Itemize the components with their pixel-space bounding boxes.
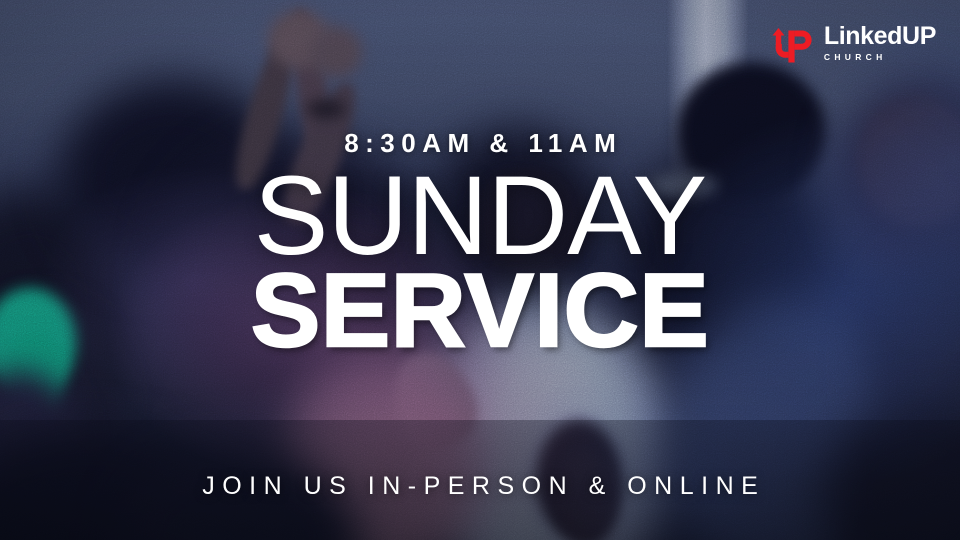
logo-subtitle: CHURCH [824,53,936,62]
headline-line-service: SERVICE [0,266,960,358]
page-title: SUNDAY SERVICE [0,168,960,358]
headline-line-sunday: SUNDAY [0,168,960,264]
linkedup-church-logo[interactable]: LinkedUP CHURCH [769,22,936,64]
linkedup-up-arrow-mark [769,22,815,64]
sunday-service-promo-graphic: LinkedUP CHURCH 8:30AM & 11AM SUNDAY SER… [0,0,960,540]
tagline: JOIN US IN-PERSON & ONLINE [0,472,960,501]
logo-wordmark: LinkedUP [824,24,936,49]
